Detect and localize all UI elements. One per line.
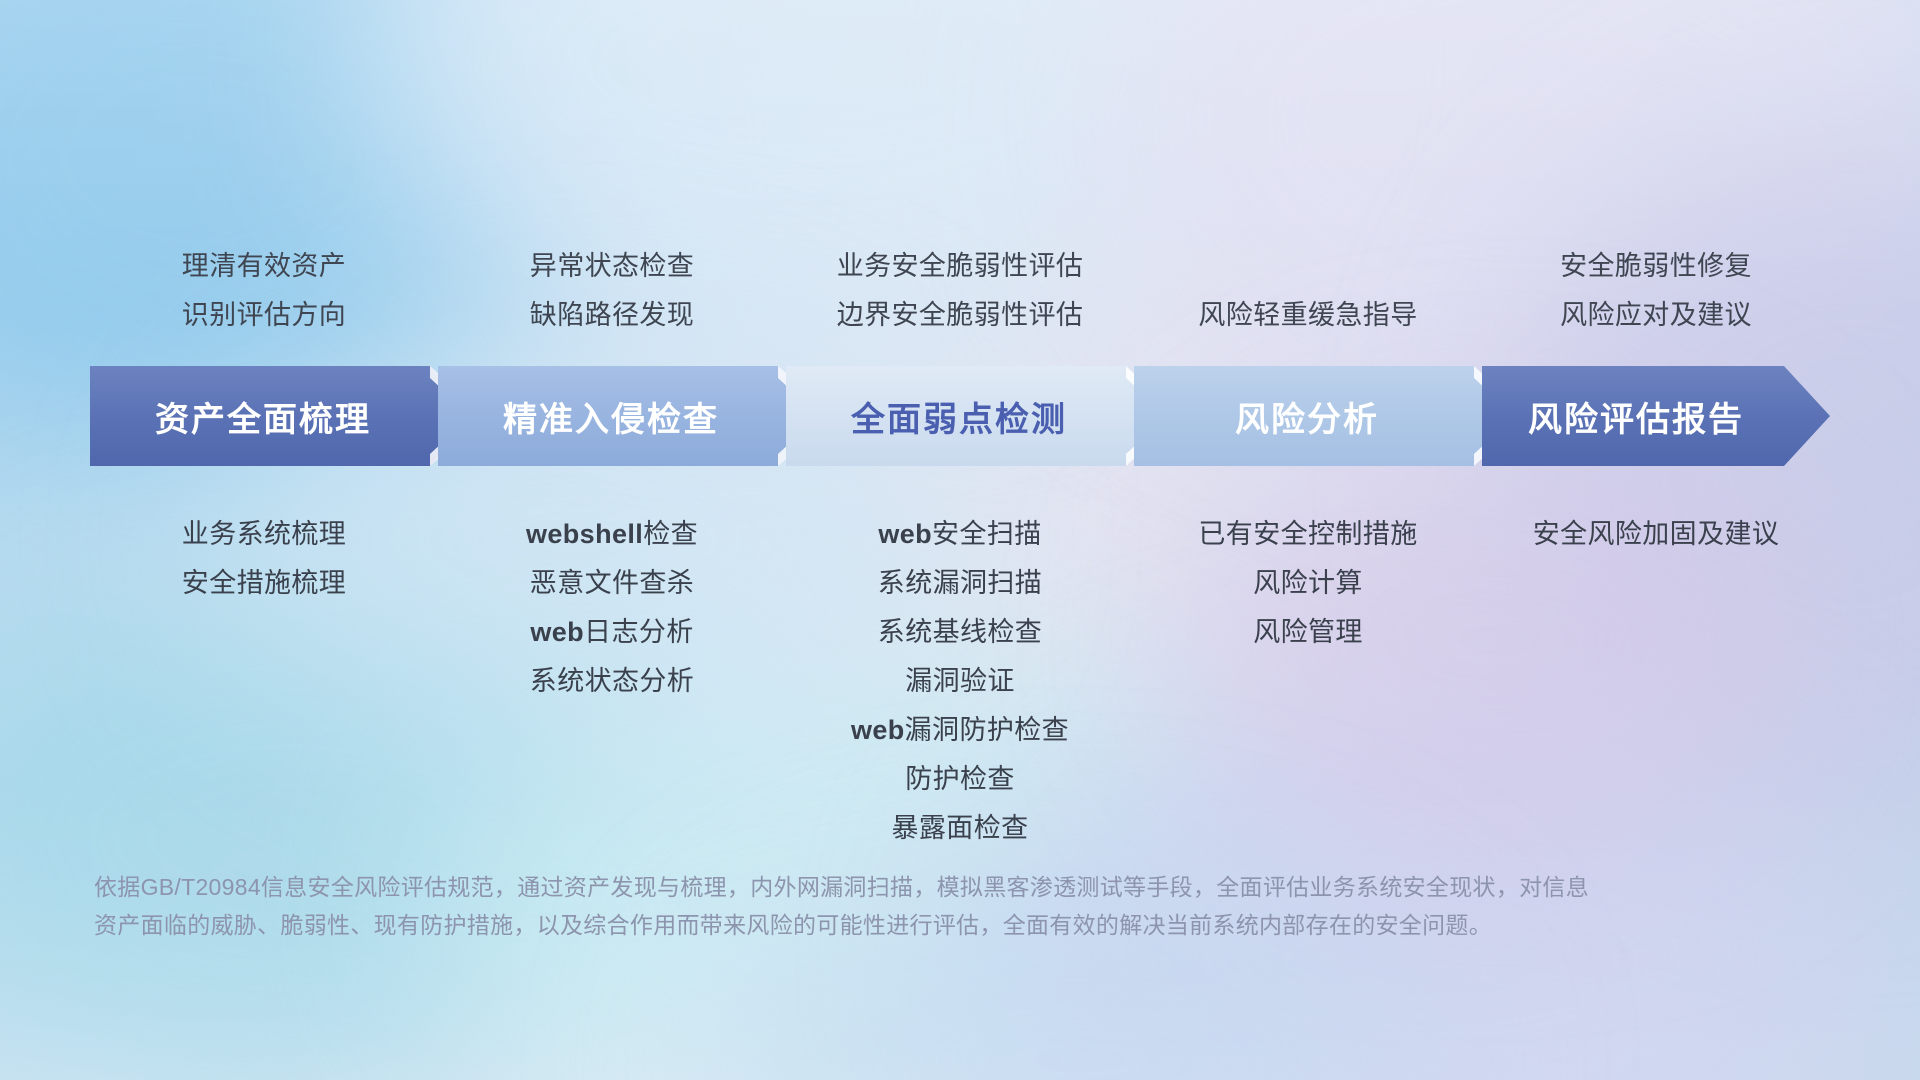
list-item: web安全扫描 [786,510,1134,559]
process-step-label: 精准入侵检查 [503,392,759,441]
process-step-5[interactable]: 风险评估报告 [1482,366,1830,466]
list-item: 暴露面检查 [786,804,1134,853]
item-en: webshell [526,519,643,549]
top-note: 边界安全脆弱性评估 [786,291,1134,340]
item-cn: 检查 [643,519,698,549]
top-notes-col-4: 风险轻重缓急指导 [1134,291,1482,340]
item-en: web [851,715,905,745]
list-item: 风险计算 [1134,559,1482,608]
top-notes-col-1: 理清有效资产 识别评估方向 [90,242,438,340]
top-note: 安全脆弱性修复 [1482,242,1830,291]
footer-line-2: 资产面临的威胁、脆弱性、现有防护措施，以及综合作用而带来风险的可能性进行评估，全… [94,906,1734,944]
list-item: 恶意文件查杀 [438,559,786,608]
top-notes-col-5: 安全脆弱性修复 风险应对及建议 [1482,242,1830,340]
item-cn: 漏洞防护检查 [905,715,1069,745]
list-item: 系统漏洞扫描 [786,559,1134,608]
process-step-2[interactable]: 精准入侵检查 [438,366,824,466]
list-item: 漏洞验证 [786,657,1134,706]
item-cn: 恶意文件查杀 [530,568,694,598]
top-notes-col-2: 异常状态检查 缺陷路径发现 [438,242,786,340]
process-step-label: 风险评估报告 [1528,392,1784,441]
item-cn: 系统状态分析 [530,666,694,696]
process-step-3[interactable]: 全面弱点检测 [786,366,1172,466]
item-cn: 系统基线检查 [878,617,1042,647]
bottom-items-col-3: web安全扫描 系统漏洞扫描 系统基线检查 漏洞验证 web漏洞防护检查 防护检… [786,510,1134,853]
item-cn: 风险计算 [1253,568,1363,598]
top-note: 异常状态检查 [438,242,786,291]
top-notes-col-3: 业务安全脆弱性评估 边界安全脆弱性评估 [786,242,1134,340]
top-note: 缺陷路径发现 [438,291,786,340]
bottom-items-col-5: 安全风险加固及建议 [1482,510,1830,853]
footer-line-1: 依据GB/T20984信息安全风险评估规范，通过资产发现与梳理，内外网漏洞扫描，… [94,868,1734,906]
list-item: 安全风险加固及建议 [1482,510,1830,559]
item-cn: 风险管理 [1253,617,1363,647]
top-note: 理清有效资产 [90,242,438,291]
list-item: 防护检查 [786,755,1134,804]
item-cn: 已有安全控制措施 [1198,519,1417,549]
process-step-label: 风险分析 [1235,392,1419,441]
process-step-1[interactable]: 资产全面梳理 [90,366,476,466]
item-cn: 漏洞验证 [905,666,1015,696]
top-note: 业务安全脆弱性评估 [786,242,1134,291]
top-note: 识别评估方向 [90,291,438,340]
list-item: 风险管理 [1134,608,1482,657]
list-item: webshell检查 [438,510,786,559]
item-en: web [530,617,584,647]
footer-description: 依据GB/T20984信息安全风险评估规范，通过资产发现与梳理，内外网漏洞扫描，… [94,868,1734,944]
item-cn: 日志分析 [584,617,694,647]
item-cn: 系统漏洞扫描 [878,568,1042,598]
slide-canvas: 理清有效资产 识别评估方向 异常状态检查 缺陷路径发现 业务安全脆弱性评估 边界… [0,0,1920,1080]
list-item: 安全措施梳理 [90,559,438,608]
item-en: web [878,519,932,549]
bottom-items-row: 业务系统梳理 安全措施梳理 webshell检查 恶意文件查杀 web日志分析 … [90,510,1830,853]
process-step-label: 全面弱点检测 [851,392,1107,441]
list-item: web日志分析 [438,608,786,657]
top-note: 风险应对及建议 [1482,291,1830,340]
list-item: 已有安全控制措施 [1134,510,1482,559]
process-step-4[interactable]: 风险分析 [1134,366,1520,466]
bottom-items-col-1: 业务系统梳理 安全措施梳理 [90,510,438,853]
process-step-label: 资产全面梳理 [155,392,411,441]
bottom-items-col-2: webshell检查 恶意文件查杀 web日志分析 系统状态分析 [438,510,786,853]
list-item: 系统状态分析 [438,657,786,706]
item-cn: 安全扫描 [932,519,1042,549]
list-item: web漏洞防护检查 [786,706,1134,755]
item-cn: 安全风险加固及建议 [1533,519,1780,549]
item-cn: 防护检查 [905,764,1015,794]
item-cn: 安全措施梳理 [182,568,346,598]
process-chevron-band: 资产全面梳理 精准入侵检查 全面弱点检测 风险分析 风险评估报告 [90,366,1830,466]
list-item: 系统基线检查 [786,608,1134,657]
top-notes-row: 理清有效资产 识别评估方向 异常状态检查 缺陷路径发现 业务安全脆弱性评估 边界… [90,200,1830,340]
bottom-items-col-4: 已有安全控制措施 风险计算 风险管理 [1134,510,1482,853]
item-cn: 业务系统梳理 [182,519,346,549]
list-item: 业务系统梳理 [90,510,438,559]
item-cn: 暴露面检查 [892,813,1029,843]
top-note: 风险轻重缓急指导 [1134,291,1482,340]
